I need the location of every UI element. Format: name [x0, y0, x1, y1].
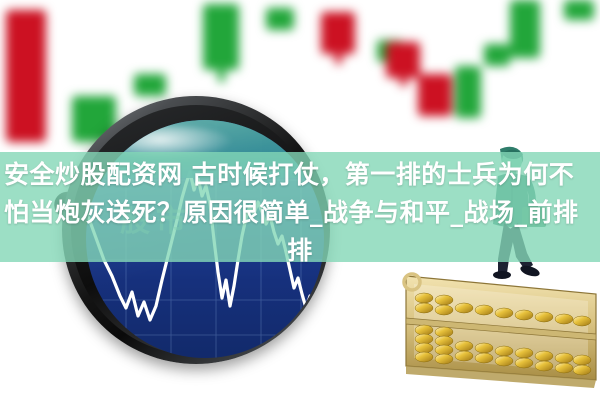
candle-body: [134, 74, 166, 96]
abacus-icon: [388, 268, 600, 400]
candle-body: [6, 10, 46, 142]
candle-body: [321, 12, 355, 54]
candle-body: [510, 0, 540, 58]
candle-body: [203, 4, 239, 70]
page-title: 安全炒股配资网 古时候打仗，第一排的士兵为何不怕当炮灰送死？原因很简单_战争与和…: [0, 156, 600, 270]
candle-body: [418, 74, 452, 116]
title-line: 怕当炮灰送死？原因很简单_战争与和平_战场_前排: [4, 194, 596, 232]
candle-body: [484, 44, 510, 66]
candle-body: [455, 66, 481, 118]
candle-body: [564, 0, 594, 20]
thumbnail-canvas: 股市 安全炒股配资网 古时候打仗，第一排的士兵为何不怕当炮灰送死？原因很简单_战…: [0, 0, 600, 400]
candle-body: [386, 42, 420, 78]
title-line: 安全炒股配资网 古时候打仗，第一排的士兵为何不: [4, 156, 596, 194]
title-line: 排: [4, 232, 596, 270]
candle-body: [266, 8, 294, 30]
